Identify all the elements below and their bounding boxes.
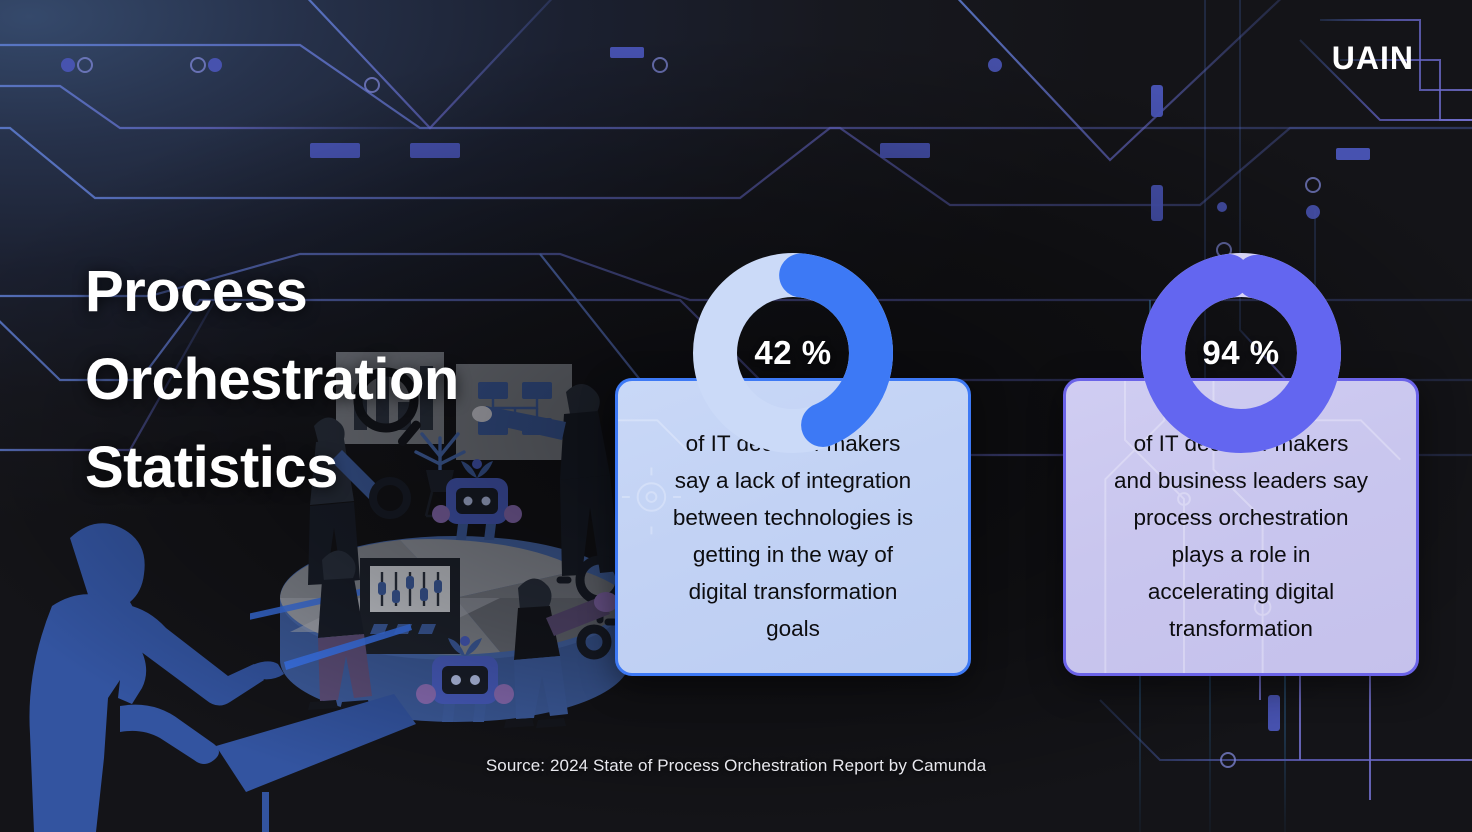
stat-card-94-text: of IT decision-makers and business leade… bbox=[1114, 425, 1368, 647]
infographic-slide: UAIN Process Orchestration Statistics 42… bbox=[0, 0, 1472, 832]
donut-42-value: 42 % bbox=[692, 252, 894, 454]
brand-logo: UAIN bbox=[1332, 40, 1414, 77]
stat-block-94: 94 % of IT decision-makers and business … bbox=[1063, 252, 1419, 676]
page-title: Process Orchestration Statistics bbox=[85, 248, 645, 512]
donut-chart-94: 94 % bbox=[1140, 252, 1342, 454]
donut-chart-42: 42 % bbox=[692, 252, 894, 454]
stat-card-42-text: of IT decision-makers say a lack of inte… bbox=[673, 425, 913, 647]
donut-94-value: 94 % bbox=[1140, 252, 1342, 454]
source-attribution: Source: 2024 State of Process Orchestrat… bbox=[0, 756, 1472, 776]
stat-block-42: 42 % of IT decision-makers say a lack of… bbox=[615, 252, 971, 676]
